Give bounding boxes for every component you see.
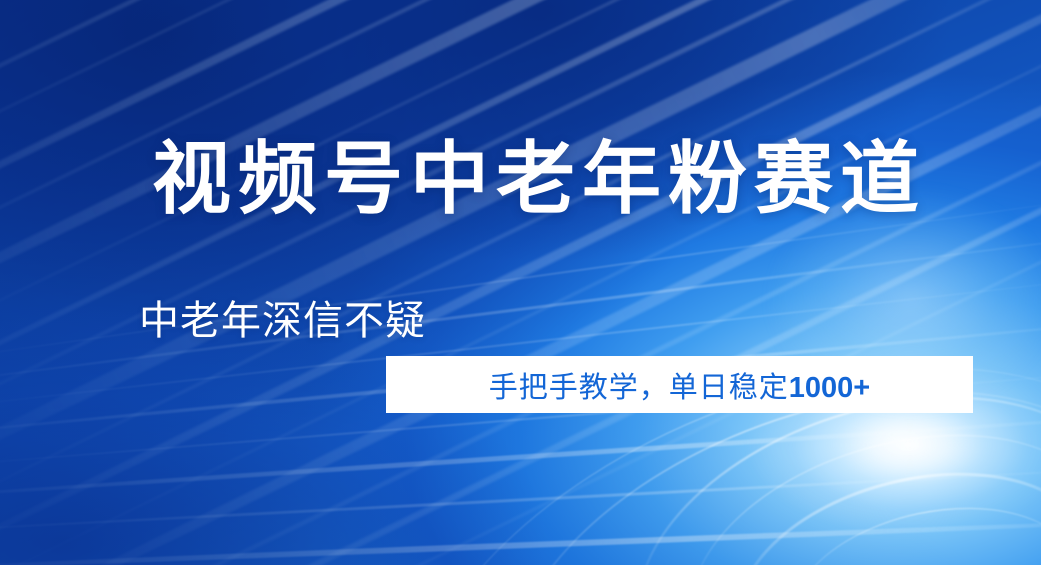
page-subtitle: 中老年深信不疑 xyxy=(139,296,426,346)
banner-text: 手把手教学，单日稳定1000+ xyxy=(489,364,870,406)
highlight-banner: 手把手教学，单日稳定1000+ xyxy=(386,356,973,413)
page-title: 视频号中老年粉赛道 xyxy=(152,133,942,225)
banner-text-number: 1000+ xyxy=(789,372,870,404)
poster-content: 视频号中老年粉赛道 中老年深信不疑 手把手教学，单日稳定1000+ xyxy=(0,0,1041,565)
promo-poster: 视频号中老年粉赛道 中老年深信不疑 手把手教学，单日稳定1000+ xyxy=(0,0,1041,565)
banner-text-prefix: 手把手教学，单日稳定 xyxy=(489,372,789,404)
